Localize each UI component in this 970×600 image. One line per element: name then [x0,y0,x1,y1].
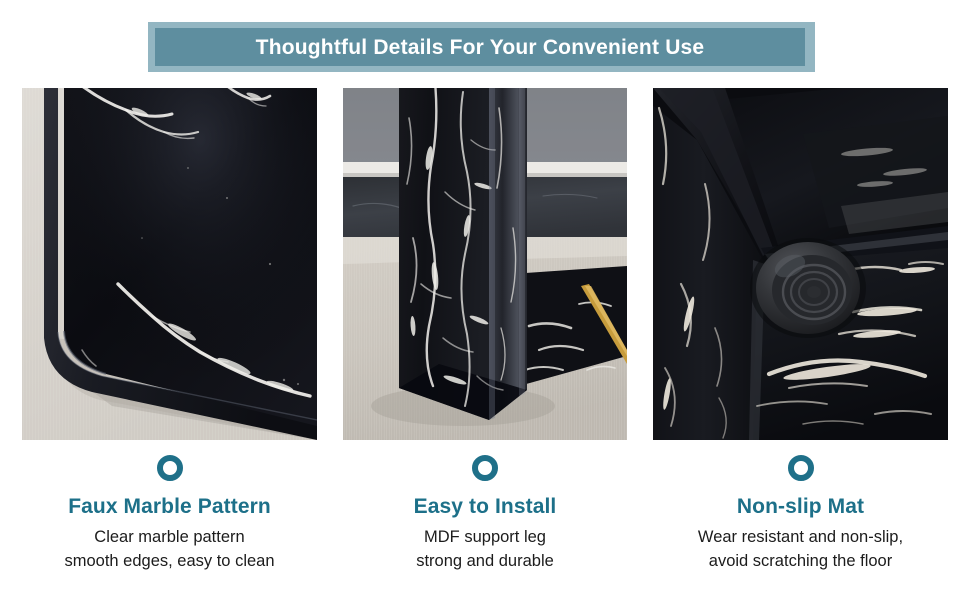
photo-row [0,88,970,440]
photo-image [22,88,317,440]
header-banner: Thoughtful Details For Your Convenient U… [148,22,815,72]
feature-photo-non-slip-mat [653,88,948,440]
feature-line-2: smooth edges, easy to clean [22,550,317,574]
feature-photo-easy-to-install [343,88,627,440]
feature-caption-faux-marble-pattern: Faux Marble Pattern Clear marble pattern… [22,446,317,574]
feature-title: Easy to Install [343,495,627,518]
feature-caption-easy-to-install: Easy to Install MDF support leg strong a… [343,446,627,574]
feature-title: Faux Marble Pattern [22,495,317,518]
page-title: Thoughtful Details For Your Convenient U… [256,37,705,58]
ring-icon [157,455,183,481]
feature-line-2: avoid scratching the floor [653,550,948,574]
photo-image [653,88,948,440]
ring-icon [788,455,814,481]
feature-line-1: Clear marble pattern [22,526,317,550]
infographic-page: Thoughtful Details For Your Convenient U… [0,0,970,600]
feature-title: Non-slip Mat [653,495,948,518]
feature-caption-non-slip-mat: Non-slip Mat Wear resistant and non-slip… [653,446,948,574]
feature-line-1: MDF support leg [343,526,627,550]
ring-icon [472,455,498,481]
feature-line-2: strong and durable [343,550,627,574]
banner-main-layer: Thoughtful Details For Your Convenient U… [155,28,805,66]
feature-line-1: Wear resistant and non-slip, [653,526,948,550]
photo-image [343,88,627,440]
caption-row: Faux Marble Pattern Clear marble pattern… [0,446,970,600]
feature-photo-faux-marble-pattern [22,88,317,440]
